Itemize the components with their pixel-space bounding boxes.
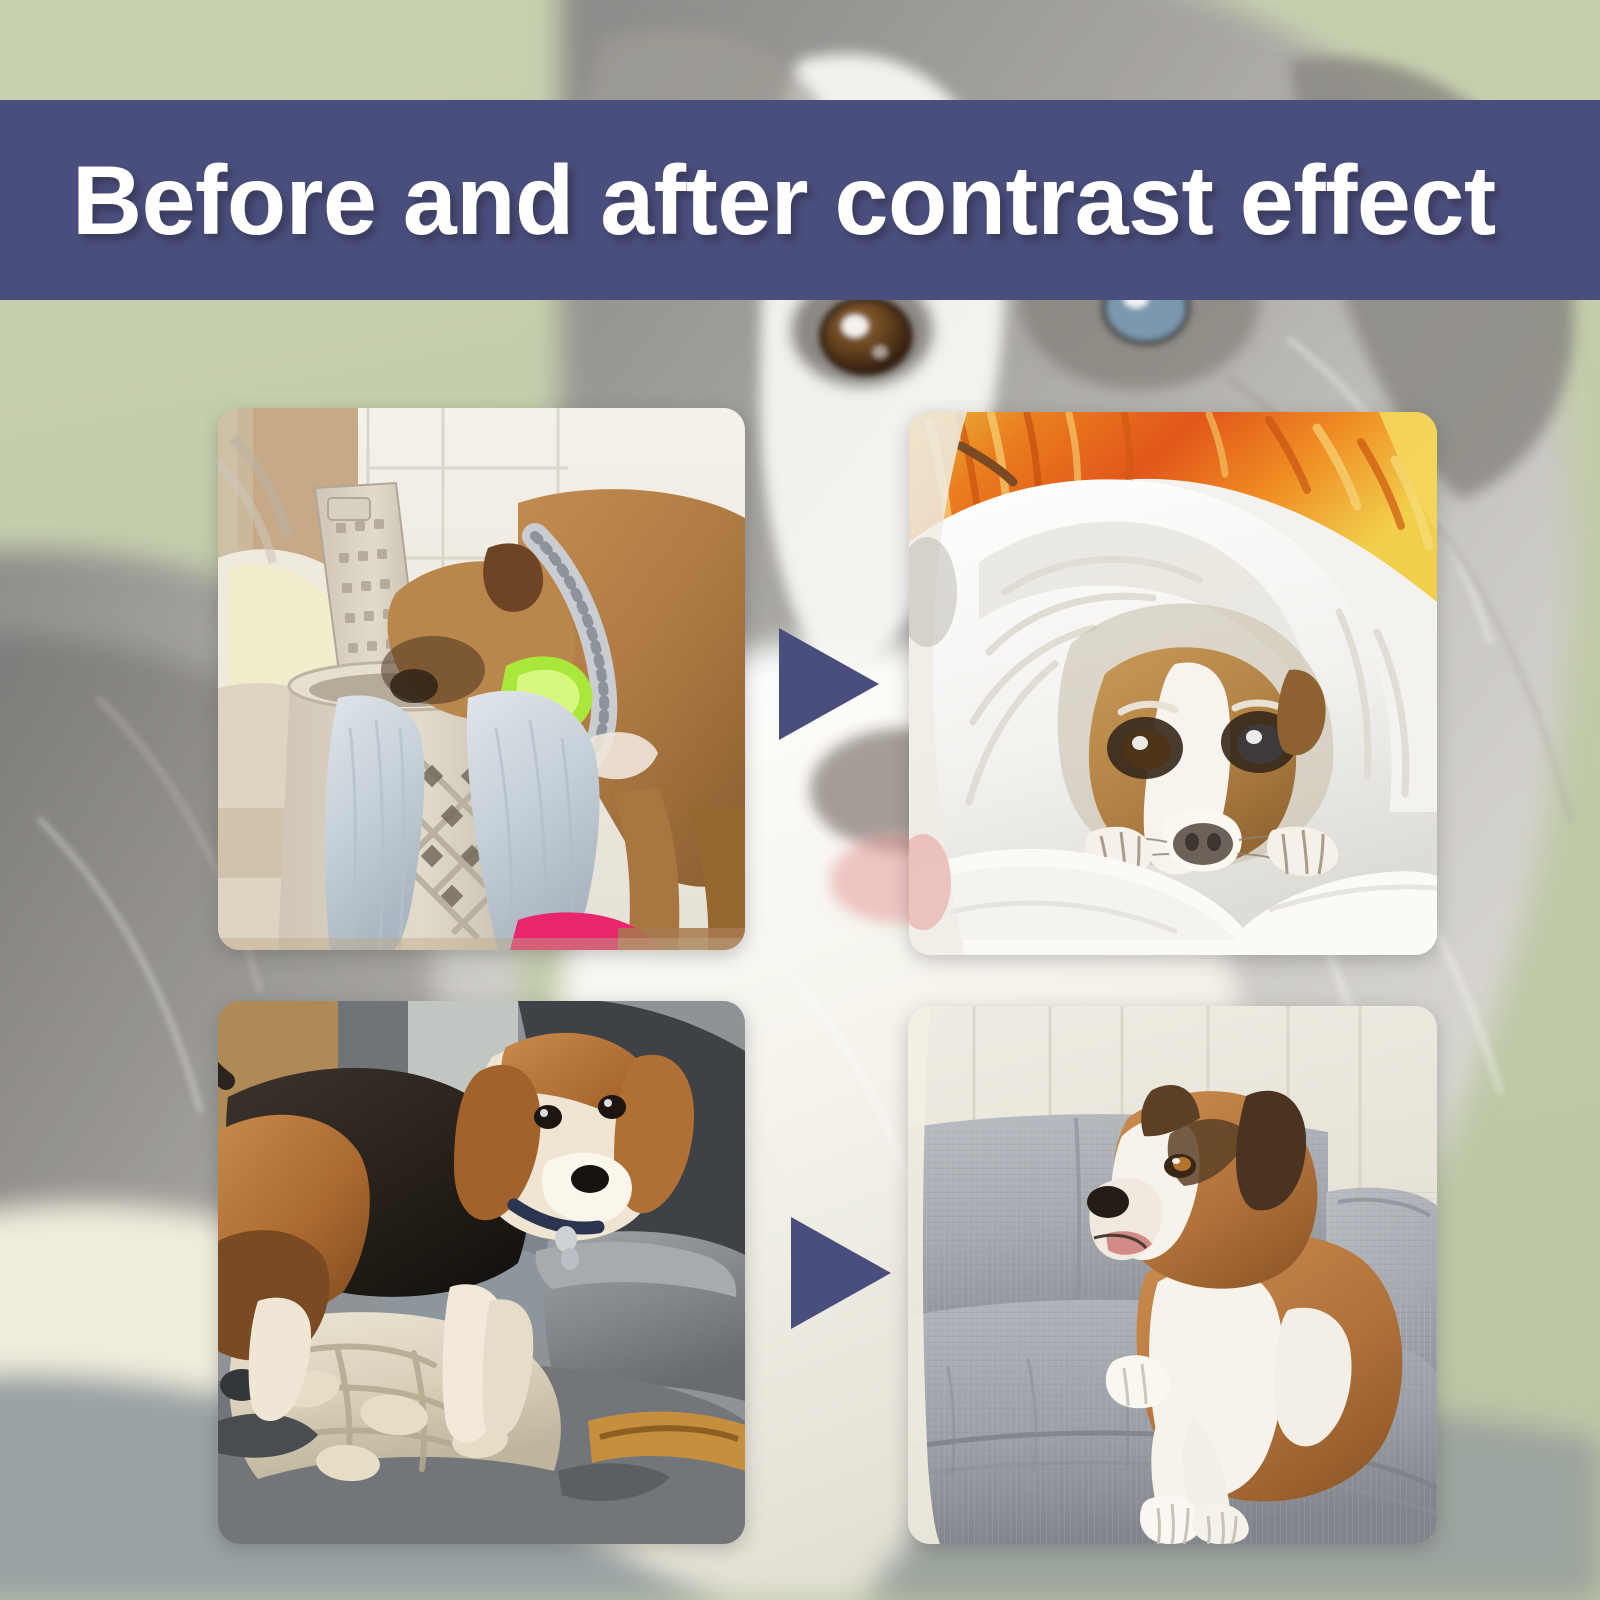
page-title: Before and after contrast effect: [72, 151, 1496, 249]
before-image-row-2[interactable]: [218, 1001, 745, 1544]
right-arrow-row-2: [791, 1217, 891, 1329]
poster-canvas: Before and after contrast effect: [0, 0, 1600, 1600]
header-banner: Before and after contrast effect: [0, 100, 1600, 300]
after-image-row-1[interactable]: [909, 412, 1437, 955]
right-arrow-row-1: [779, 628, 879, 740]
after-image-row-2[interactable]: [908, 1006, 1437, 1544]
before-image-row-1[interactable]: [218, 408, 745, 950]
